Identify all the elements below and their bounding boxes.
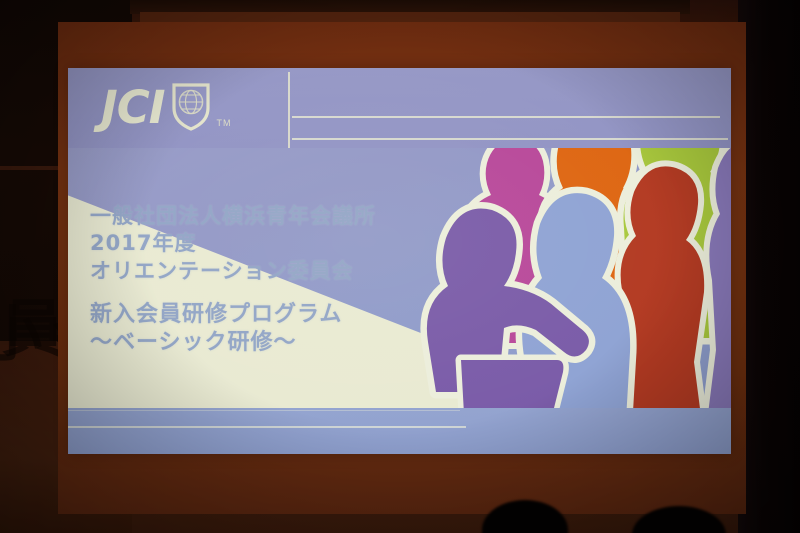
trademark-mark: TM: [217, 118, 232, 128]
slide-line-program: 新入会員研修プログラム: [90, 301, 376, 330]
presentation-slide: JCI TM 一般社団法人横浜青年会議所 2017年: [68, 68, 731, 454]
screen-roller-housing: [140, 12, 680, 22]
wall-calligraphy-3: 小: [0, 305, 42, 365]
footer-rule-2: [68, 410, 460, 411]
header-rule-1: [292, 116, 720, 118]
screenshot-stage: 員 会 小: [0, 0, 800, 533]
slide-line-org: 一般社団法人横浜青年会議所: [90, 203, 376, 230]
slide-line-year: 2017年度: [90, 230, 376, 257]
slide-text-block: 一般社団法人横浜青年会議所 2017年度 オリエンテーション委員会 新入会員研修…: [90, 203, 376, 358]
slide-footer-band: [68, 408, 731, 454]
header-rule-2: [292, 138, 728, 140]
footer-rule-1: [68, 426, 466, 428]
jci-shield-globe-icon: [171, 82, 211, 132]
jci-wordmark: JCI: [101, 85, 165, 130]
header-vertical-divider: [288, 72, 290, 148]
jci-logo: JCI TM: [101, 82, 232, 132]
slide-line-committee: オリエンテーション委員会: [90, 258, 376, 285]
slide-line-subtitle: ～ベーシック研修～: [90, 329, 376, 358]
room-dark-right: [738, 0, 800, 533]
slide-text-gap: [90, 285, 376, 301]
slide-header-band: JCI TM: [68, 68, 731, 148]
